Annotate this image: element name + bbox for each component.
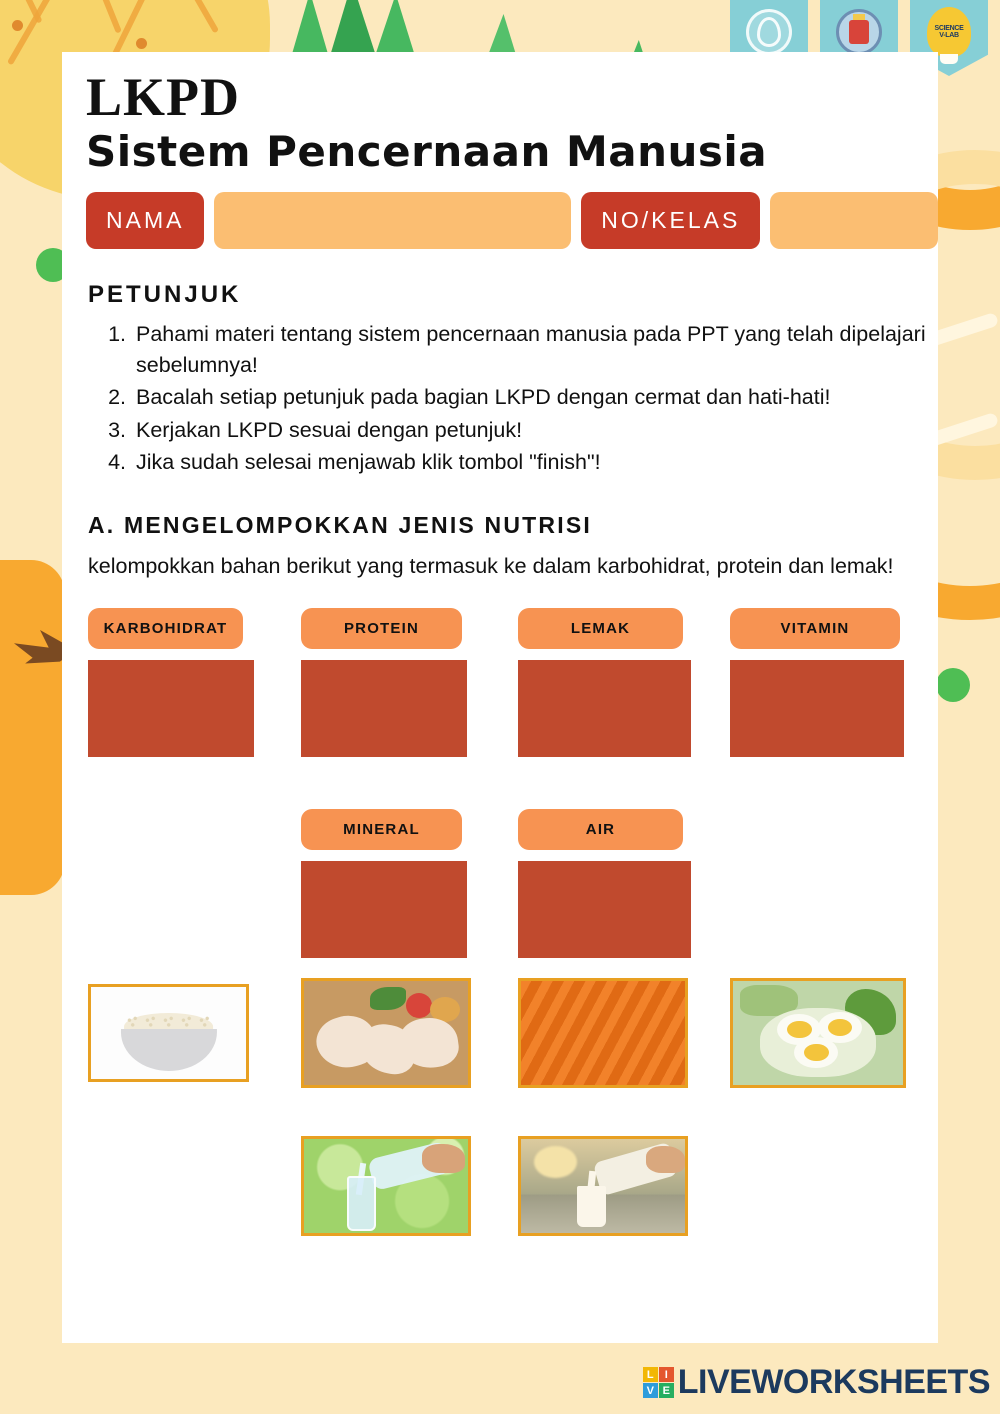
- instruction-item: Bacalah setiap petunjuk pada bagian LKPD…: [132, 382, 938, 413]
- brand-text: LIVEWORKSHEETS: [678, 1363, 990, 1402]
- university-seal-icon: [746, 9, 792, 55]
- worksheet-card: LKPD Sistem Pencernaan Manusia NAMA NO/K…: [62, 52, 938, 1343]
- instruction-item: Jika sudah selesai menjawab klik tombol …: [132, 447, 938, 478]
- boiled-eggs-image[interactable]: [730, 978, 906, 1088]
- category-groups: KARBOHIDRAT PROTEIN LEMAK VITAMIN MINERA…: [62, 608, 938, 948]
- category-group-protein: PROTEIN: [301, 608, 467, 757]
- category-label: MINERAL: [301, 809, 462, 850]
- dropzone-lemak[interactable]: [518, 660, 691, 757]
- page-title: LKPD: [86, 70, 938, 124]
- page-subtitle: Sistem Pencernaan Manusia: [86, 130, 938, 174]
- instructions-list: Pahami materi tentang sistem pencernaan …: [110, 319, 938, 478]
- class-input[interactable]: [770, 192, 938, 249]
- instruction-item: Pahami materi tentang sistem pencernaan …: [132, 319, 938, 380]
- student-info-row: NAMA NO/KELAS: [86, 192, 938, 249]
- category-label: LEMAK: [518, 608, 683, 649]
- logo-tile: E: [659, 1383, 674, 1398]
- vlab-line1: SCIENCE: [934, 25, 963, 32]
- logo-tile: I: [659, 1367, 674, 1382]
- carrots-thumb: [521, 981, 685, 1085]
- liveworksheets-logo: L I V E LIVEWORKSHEETS: [643, 1363, 990, 1402]
- green-dot-right: [936, 668, 970, 702]
- category-group-vitamin: VITAMIN: [730, 608, 904, 757]
- raw-chicken-image[interactable]: [301, 978, 471, 1088]
- dropzone-air[interactable]: [518, 861, 691, 958]
- pouring-milk-image[interactable]: [518, 1136, 688, 1236]
- instruction-item: Kerjakan LKPD sesuai dengan petunjuk!: [132, 415, 938, 446]
- dropzone-mineral[interactable]: [301, 861, 467, 958]
- name-input[interactable]: [214, 192, 571, 249]
- rice-bowl-thumb: [91, 987, 246, 1079]
- category-label: KARBOHIDRAT: [88, 608, 243, 649]
- vlab-line2: V-LAB: [939, 32, 959, 39]
- category-group-mineral: MINERAL: [301, 809, 467, 958]
- worksheet-page: SCIENCE V-LAB LKPD Sistem Pencernaan Man…: [0, 0, 1000, 1414]
- section-a-description: kelompokkan bahan berikut yang termasuk …: [88, 551, 918, 582]
- category-label: AIR: [518, 809, 683, 850]
- rice-bowl-image[interactable]: [88, 984, 249, 1082]
- section-a-heading: A. MENGELOMPOKKAN JENIS NUTRISI: [88, 512, 938, 539]
- logo-tile: L: [643, 1367, 658, 1382]
- carrots-image[interactable]: [518, 978, 688, 1088]
- item-images: [62, 984, 938, 1274]
- logo-tile: V: [643, 1383, 658, 1398]
- category-group-karbohidrat: KARBOHIDRAT: [88, 608, 254, 757]
- category-group-lemak: LEMAK: [518, 608, 691, 757]
- raw-chicken-thumb: [304, 981, 468, 1085]
- instructions-heading: PETUNJUK: [88, 281, 938, 309]
- lightbulb-icon: SCIENCE V-LAB: [927, 7, 971, 57]
- dropzone-vitamin[interactable]: [730, 660, 904, 757]
- logo-tiles: L I V E: [643, 1367, 674, 1398]
- name-label: NAMA: [86, 192, 204, 249]
- category-label: VITAMIN: [730, 608, 900, 649]
- boiled-eggs-thumb: [733, 981, 903, 1085]
- category-group-air: AIR: [518, 809, 691, 958]
- pouring-milk-thumb: [521, 1139, 685, 1233]
- dropzone-karbohidrat[interactable]: [88, 660, 254, 757]
- dropzone-protein[interactable]: [301, 660, 467, 757]
- school-seal-icon: [836, 9, 882, 55]
- leaf-decoration-1: [292, 0, 328, 54]
- class-label: NO/KELAS: [581, 192, 760, 249]
- pouring-water-image[interactable]: [301, 1136, 471, 1236]
- pouring-water-thumb: [304, 1139, 468, 1233]
- leaf-decoration-3: [375, 0, 415, 56]
- orange-band-decoration: [0, 560, 65, 895]
- leaf-decoration-2: [330, 0, 376, 56]
- category-label: PROTEIN: [301, 608, 462, 649]
